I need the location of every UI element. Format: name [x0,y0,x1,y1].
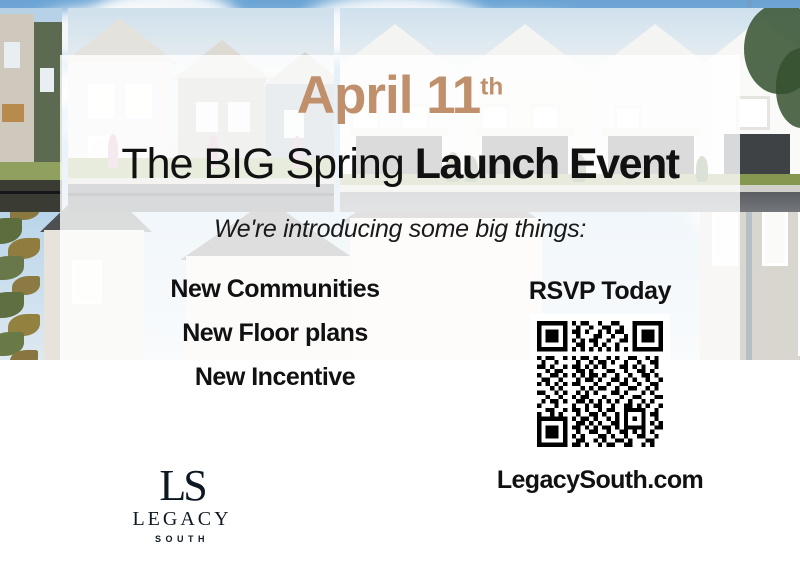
legacy-south-logo: LS LEGACY SOUTH [122,465,242,544]
flyer-canvas: April 11th The BIG Spring Launch Event W… [0,0,800,572]
event-date-headline: April 11th [60,69,740,122]
feature-item: New Communities [90,277,460,302]
event-title-light: The BIG Spring [121,140,414,188]
event-date-text: April 11 [297,66,480,125]
event-title-headline: The BIG Spring Launch Event [60,143,740,186]
qr-code-icon[interactable] [537,321,663,447]
rsvp-heading: RSVP Today [460,277,740,306]
feature-item: New Incentive [90,365,460,390]
logo-monogram: LS [122,465,242,507]
qr-code[interactable] [530,314,670,454]
content-overlay-panel: April 11th The BIG Spring Launch Event W… [60,55,740,515]
rsvp-section: RSVP Today [460,277,740,495]
photo-tile-left [0,8,62,212]
logo-wordmark: LEGACY [122,509,242,529]
event-date-ordinal: th [480,73,503,100]
logo-subtext: SOUTH [122,534,242,544]
event-title-bold: Launch Event [415,140,679,188]
event-subheading: We're introducing some big things: [60,215,740,244]
feature-list: New Communities New Floor plans New Ince… [90,277,460,409]
website-url[interactable]: LegacySouth.com [460,466,740,495]
feature-item: New Floor plans [90,321,460,346]
